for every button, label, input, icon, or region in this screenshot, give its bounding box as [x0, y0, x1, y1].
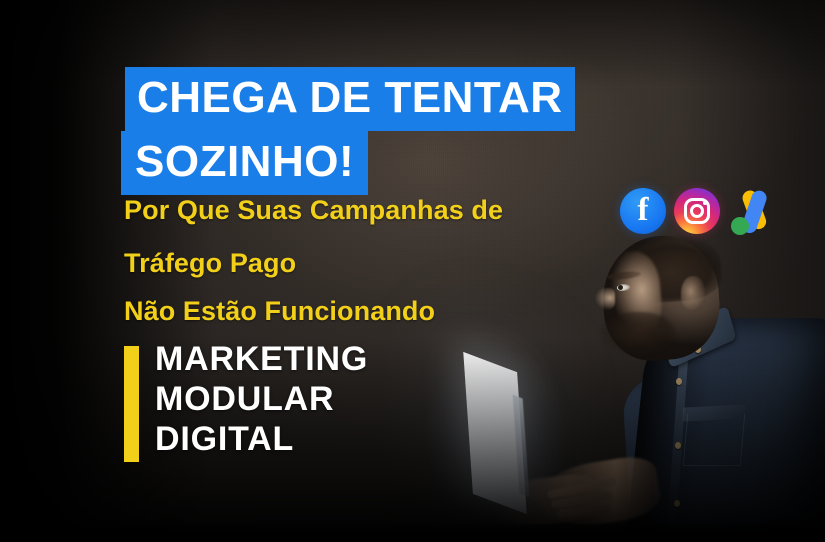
subhead-line-2: Tráfego Pago	[124, 250, 296, 277]
headline-line-2: SOZINHO!	[121, 131, 368, 195]
google-ads-icon-green-dot	[731, 217, 749, 235]
facebook-icon[interactable]: f	[620, 188, 668, 236]
brand-line-2: MODULAR	[155, 382, 368, 416]
subhead-line-3: Não Estão Funcionando	[124, 298, 435, 325]
brand-line-3: DIGITAL	[155, 422, 368, 456]
subhead-line-1: Por Que Suas Campanhas de	[124, 197, 503, 224]
social-icon-group: f	[620, 188, 780, 236]
instagram-icon-lens	[690, 204, 704, 218]
headline-line-1: CHEGA DE TENTAR	[125, 67, 575, 131]
facebook-icon-glyph: f	[620, 194, 666, 227]
instagram-icon-dot	[703, 201, 707, 205]
instagram-icon[interactable]	[674, 188, 722, 236]
bottom-black-band	[0, 524, 825, 542]
brand-line-1: MARKETING	[155, 342, 368, 376]
brand-name: MARKETING MODULAR DIGITAL	[155, 342, 368, 462]
marketing-banner: CHEGA DE TENTAR SOZINHO! Por Que Suas Ca…	[0, 0, 825, 542]
instagram-icon-circle	[674, 188, 720, 234]
google-ads-icon[interactable]	[728, 188, 780, 236]
facebook-icon-circle: f	[620, 188, 666, 234]
brand-accent-bar	[124, 346, 139, 462]
